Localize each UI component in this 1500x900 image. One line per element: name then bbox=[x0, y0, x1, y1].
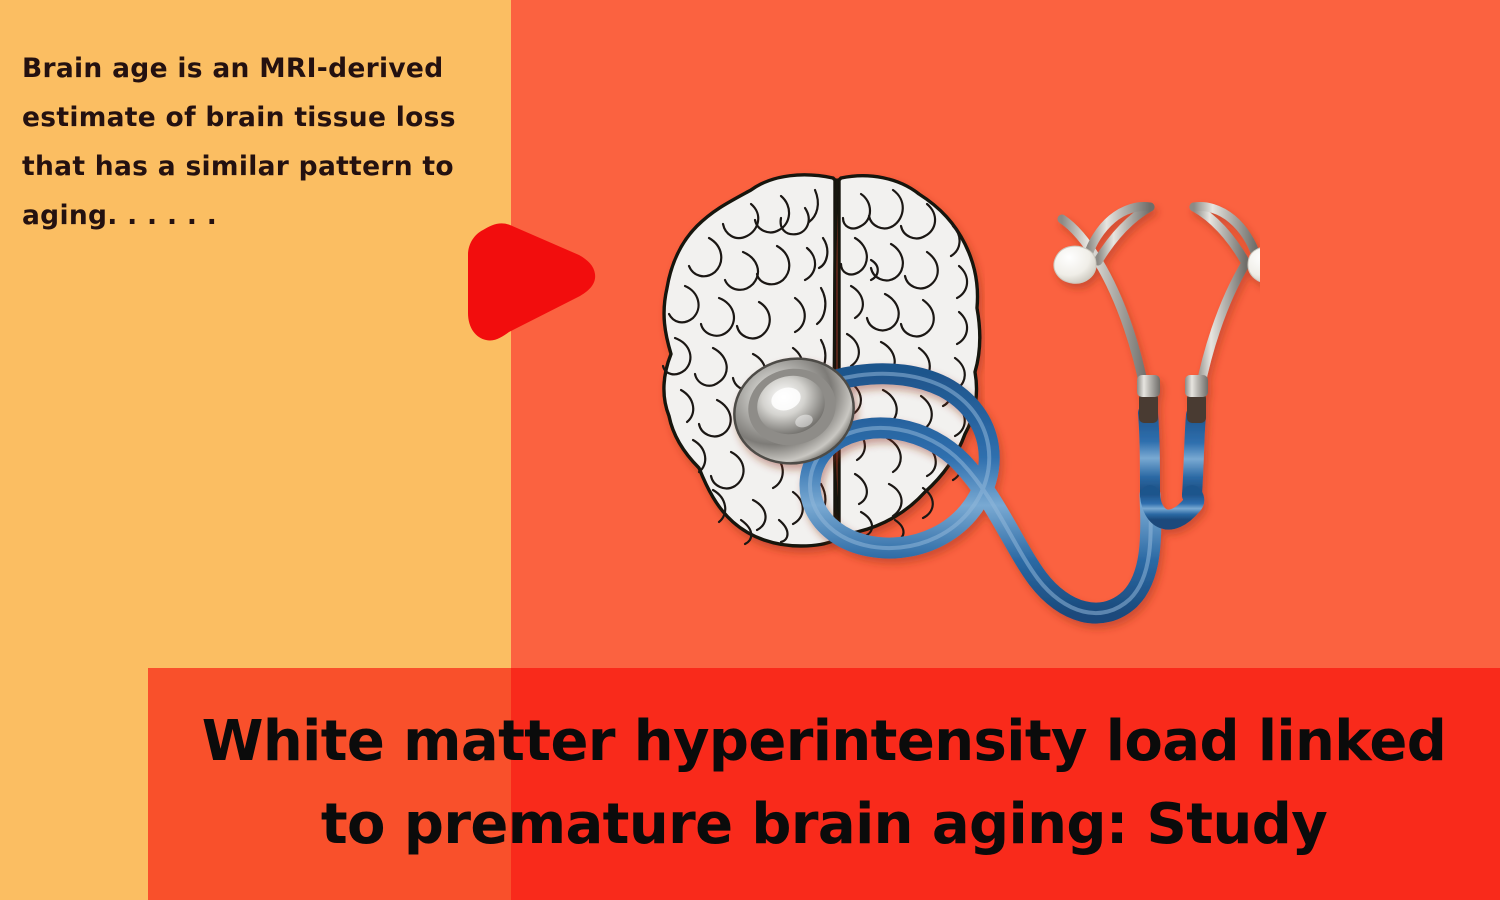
caption-text: Brain age is an MRI-derived estimate of … bbox=[22, 44, 492, 240]
play-button[interactable] bbox=[462, 210, 598, 358]
headline-line-2: to premature brain aging: Study bbox=[321, 784, 1327, 867]
headline-title: White matter hyperintensity load linked … bbox=[148, 668, 1500, 900]
headline-line-1: White matter hyperintensity load linked bbox=[202, 701, 1447, 784]
play-triangle-icon bbox=[462, 210, 598, 358]
news-graphic-canvas: Brain age is an MRI-derived estimate of … bbox=[0, 0, 1500, 900]
brain-illustration bbox=[655, 168, 985, 560]
headline-banner: White matter hyperintensity load linked … bbox=[148, 668, 1500, 900]
